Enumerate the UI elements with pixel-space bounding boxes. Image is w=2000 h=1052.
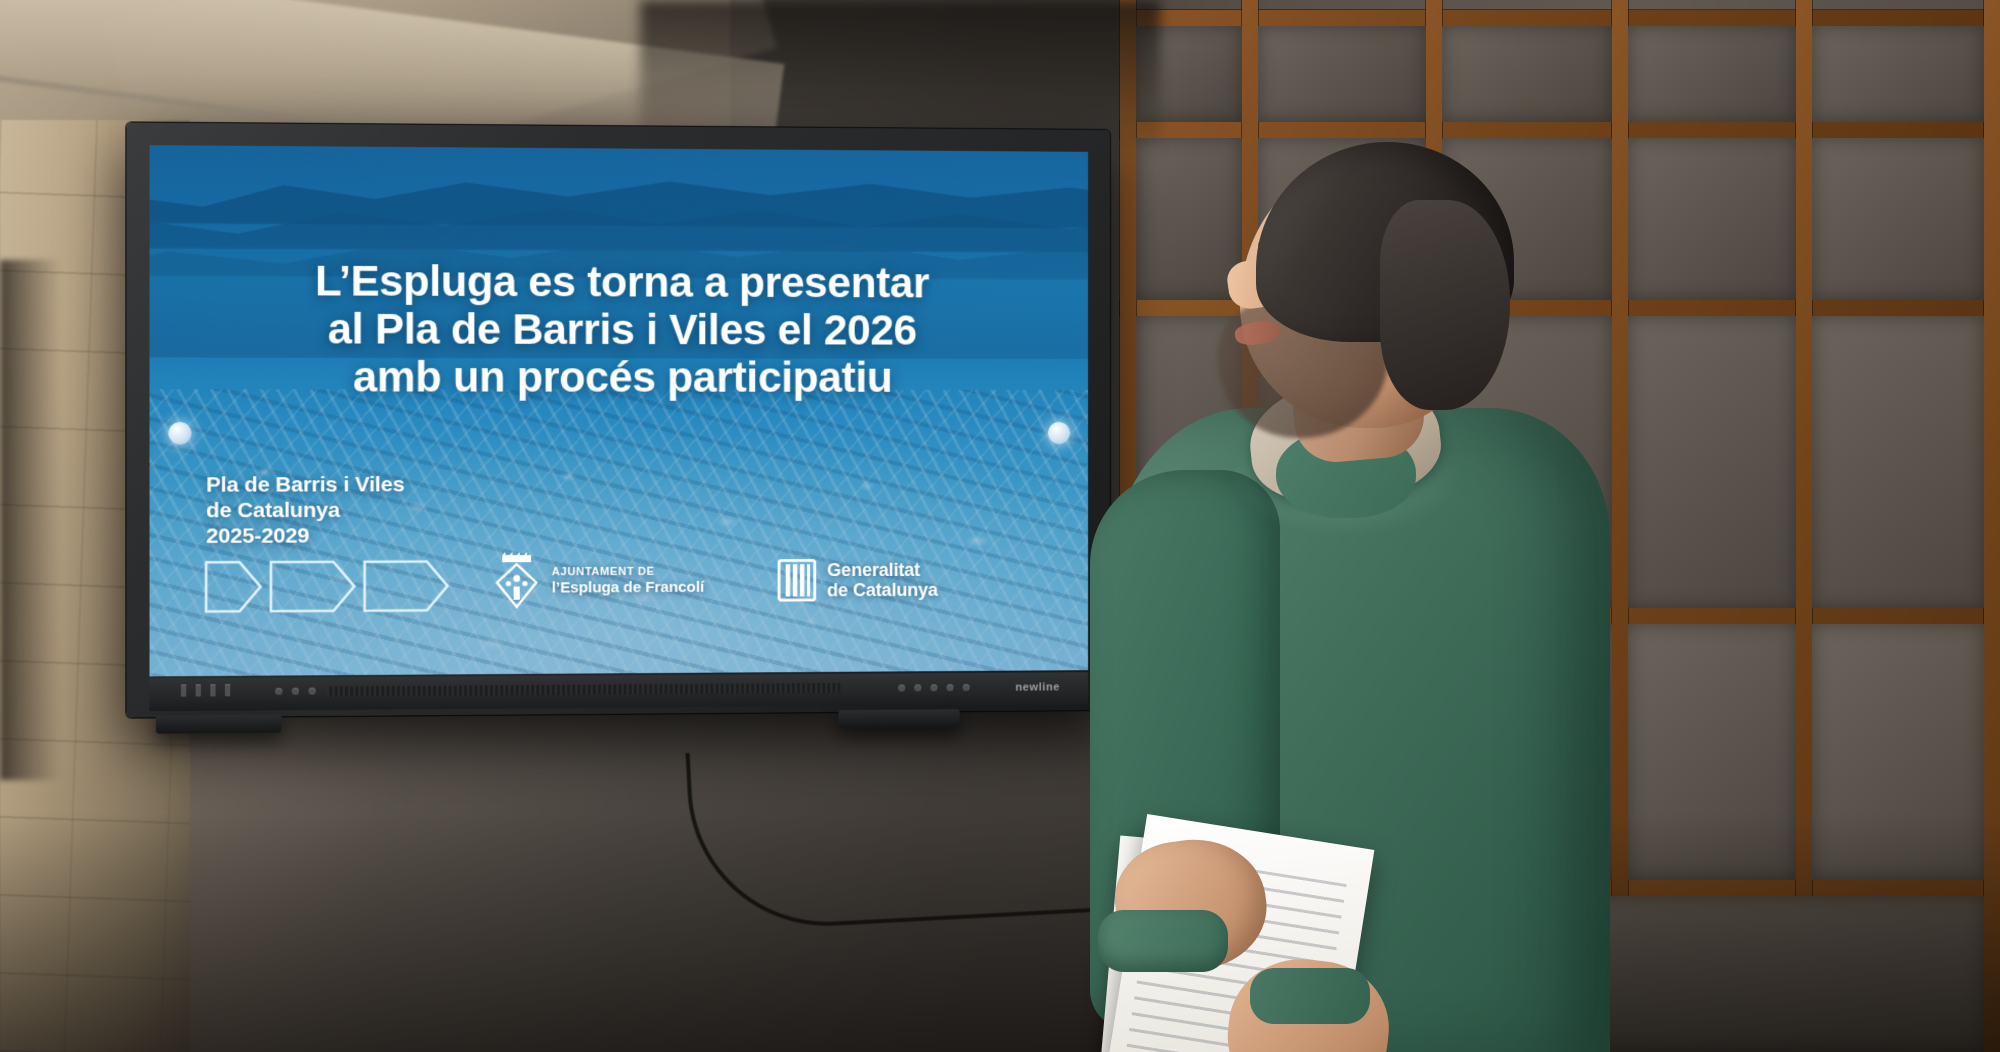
dark-recess (0, 260, 60, 780)
display-port-strip[interactable] (181, 684, 230, 697)
logo-generalitat-line-1: Generalitat (827, 559, 938, 580)
slide-subtitle: Pla de Barris i Viles de Catalunya 2025-… (206, 473, 404, 549)
display-screen[interactable]: L’Espluga es torna a presentar al Pla de… (150, 145, 1089, 676)
wall-pane (1628, 138, 1796, 300)
headline-line-2: al Pla de Barris i Viles el 2026 (185, 304, 1054, 354)
display-foot-left (156, 714, 282, 733)
display-foot-right (838, 709, 959, 728)
power-cable (686, 731, 1115, 933)
coat-of-arms-icon (493, 552, 540, 611)
wall-pane (1812, 316, 1984, 608)
wall-pane (1628, 316, 1796, 608)
chevron-arrow-icon (269, 560, 356, 613)
display-connector-group[interactable] (275, 688, 316, 695)
presentation-photo-scene: L’Espluga es torna a presentar al Pla de… (0, 0, 2000, 1052)
wall-pane (1812, 26, 1984, 122)
slide-headline: L’Espluga es torna a presentar al Pla de… (150, 256, 1089, 401)
subtitle-line-1: Pla de Barris i Viles (206, 473, 404, 499)
headline-line-1: L’Espluga es torna a presentar (185, 256, 1054, 307)
person-sleeve-cuff (1250, 968, 1370, 1024)
chevron-arrow-icon (363, 559, 450, 612)
person-hair-side (1380, 200, 1510, 410)
display-brand-logo: newline (1015, 681, 1060, 693)
person-presenter (1080, 140, 1640, 1052)
chevron-graphic-group (204, 559, 450, 613)
logo-ajuntament-line-1: AJUNTAMENT DE (552, 566, 704, 579)
headline-line-3: amb un procés participatiu (185, 352, 1054, 401)
touch-sensor-left (168, 422, 191, 445)
subtitle-line-3: 2025-2029 (206, 523, 404, 549)
logo-generalitat-text: Generalitat de Catalunya (827, 559, 938, 600)
wall-pane (1442, 26, 1612, 122)
logo-ajuntament: AJUNTAMENT DE l’Espluga de Francolí (493, 551, 704, 611)
wall-pane (1258, 26, 1426, 122)
wall-pane (1812, 138, 1984, 300)
subtitle-line-2: de Catalunya (206, 498, 404, 524)
logo-ajuntament-text: AJUNTAMENT DE l’Espluga de Francolí (552, 566, 704, 597)
touch-sensor-right (1048, 422, 1070, 444)
logo-generalitat: Generalitat de Catalunya (777, 559, 938, 602)
interactive-display[interactable]: L’Espluga es torna a presentar al Pla de… (126, 122, 1110, 717)
slide-logo-row: AJUNTAMENT DE l’Espluga de Francolí (493, 551, 938, 611)
person-sleeve-cuff (1098, 910, 1228, 972)
wall-pane (1628, 26, 1796, 122)
logo-generalitat-line-2: de Catalunya (827, 580, 938, 601)
display-button-group[interactable] (898, 684, 970, 692)
speaker-grille (327, 683, 840, 697)
chevron-arrow-icon (204, 560, 263, 613)
presentation-slide: L’Espluga es torna a presentar al Pla de… (150, 145, 1089, 676)
senyera-four-bars-icon (777, 559, 816, 602)
logo-ajuntament-line-2: l’Espluga de Francolí (552, 579, 704, 597)
